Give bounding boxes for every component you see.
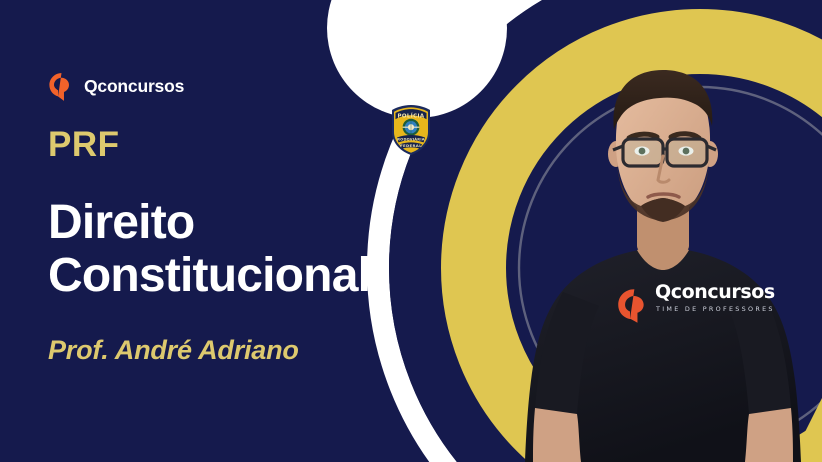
instructor-portrait: Qconcursos TIME DE PROFESSORES [505,0,822,462]
course-thumbnail-slide: POLÍCIA RODOVIÁRIA FEDERAL [0,0,822,462]
exam-label: PRF [48,127,120,162]
teacher-name: Prof. André Adriano [48,337,299,364]
qconcursos-q-icon [48,72,75,102]
shirt-tagline-text: TIME DE PROFESSORES [655,305,775,313]
brand-name-label: Qconcursos [84,78,184,96]
brand-lockup: Qconcursos [48,72,184,102]
shirt-brand-text: Qconcursos [655,281,775,303]
course-title: Direito Constitucional [48,196,370,303]
text-content-column: Qconcursos PRF Direito Constitucional Pr… [48,0,478,462]
